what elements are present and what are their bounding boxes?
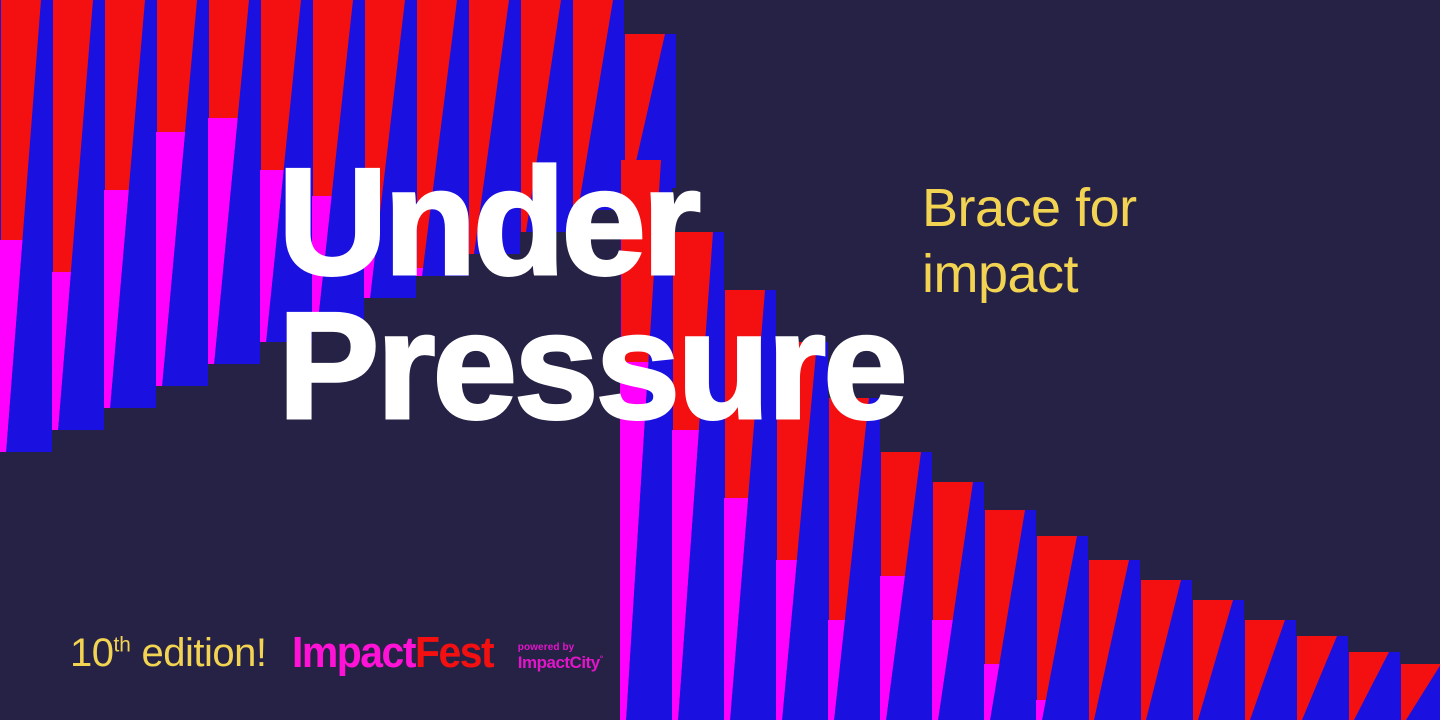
background-wedge-pattern [0,0,1440,720]
impactfest-poster: Under Pressure Brace for impact 10th edi… [0,0,1440,720]
